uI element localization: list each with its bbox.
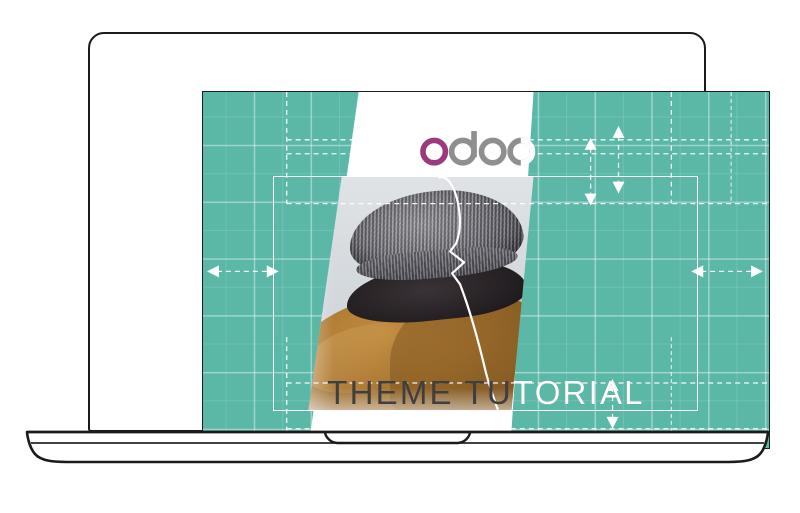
scene: .d{stroke:#ffffff;stroke-width:1.3;fill:… — [0, 0, 800, 513]
slide-canvas: .d{stroke:#ffffff;stroke-width:1.3;fill:… — [203, 92, 769, 448]
odoo-logo — [418, 126, 543, 172]
logo-letter-o2 — [482, 140, 504, 162]
logo-letter-o1 — [423, 140, 445, 162]
laptop-base — [25, 430, 770, 464]
laptop-lid: .d{stroke:#ffffff;stroke-width:1.3;fill:… — [88, 32, 706, 432]
laptop-screen[interactable]: .d{stroke:#ffffff;stroke-width:1.3;fill:… — [202, 91, 770, 449]
base-body — [27, 432, 768, 462]
logo-letter-d — [452, 131, 477, 163]
